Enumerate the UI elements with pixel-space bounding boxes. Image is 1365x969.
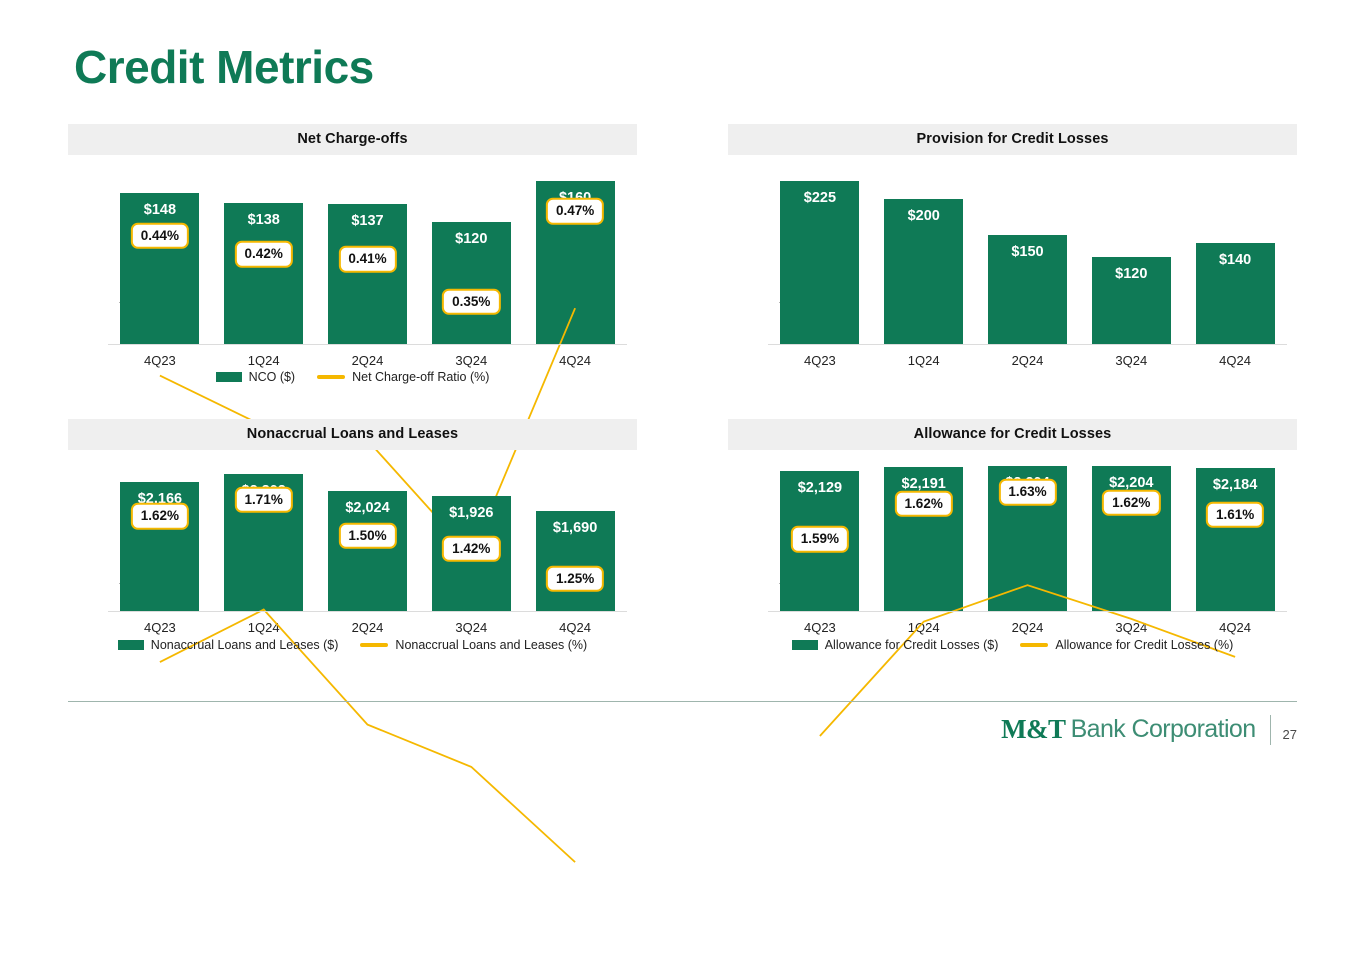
chart-title-nonaccrual-loans-and-leases: Nonaccrual Loans and Leases bbox=[68, 419, 637, 450]
chart-area-nonaccrual-loans-and-leases: $ IN MILLIONS $2,1664Q23$2,3021Q24$2,024… bbox=[68, 450, 637, 640]
x-axis-tick-label: 3Q24 bbox=[1079, 353, 1183, 368]
bar-group: $140 bbox=[1183, 155, 1287, 345]
bar-group: $2,191 bbox=[872, 450, 976, 612]
x-axis-tick: 4Q23 bbox=[108, 346, 212, 372]
x-axis-tick-label: 2Q24 bbox=[976, 353, 1080, 368]
x-axis-tick-label: 2Q24 bbox=[316, 353, 420, 368]
x-axis-tick: 3Q24 bbox=[419, 346, 523, 372]
chart-title-net-charge-offs: Net Charge-offs bbox=[68, 124, 637, 155]
legend-bar-swatch-icon bbox=[792, 640, 818, 650]
legend-line-swatch-icon bbox=[360, 643, 388, 647]
legend-line-swatch-icon bbox=[1020, 643, 1048, 647]
ratio-value-pill[interactable]: 1.62% bbox=[131, 503, 189, 530]
legend-item-line: Nonaccrual Loans and Leases (%) bbox=[360, 638, 587, 652]
legend-item-line: Net Charge-off Ratio (%) bbox=[317, 370, 489, 384]
x-axis-tick: 4Q23 bbox=[108, 613, 212, 639]
ratio-value-pill[interactable]: 1.50% bbox=[338, 522, 396, 549]
x-axis-tick-label: 2Q24 bbox=[976, 620, 1080, 635]
bar-group: $120 bbox=[419, 155, 523, 345]
legend-line-label: Allowance for Credit Losses (%) bbox=[1055, 638, 1233, 652]
chart-legend-nonaccrual-loans-and-leases: Nonaccrual Loans and Leases ($) Nonaccru… bbox=[68, 638, 637, 652]
brand-divider bbox=[1270, 715, 1271, 745]
chart-legend-net-charge-offs: NCO ($) Net Charge-off Ratio (%) bbox=[68, 370, 637, 384]
ratio-value-pill[interactable]: 1.71% bbox=[235, 487, 293, 514]
x-axis-tick-label: 3Q24 bbox=[419, 353, 523, 368]
legend-bar-label: Nonaccrual Loans and Leases ($) bbox=[151, 638, 339, 652]
bar-value-label: $137 bbox=[328, 213, 407, 229]
legend-item-bar: Allowance for Credit Losses ($) bbox=[792, 638, 999, 652]
x-axis-tick-label: 3Q24 bbox=[419, 620, 523, 635]
ratio-value-pill[interactable]: 1.61% bbox=[1206, 501, 1264, 528]
bar[interactable]: $225 bbox=[780, 181, 859, 345]
bar[interactable]: $2,191 bbox=[884, 467, 963, 612]
x-axis-tick: 1Q24 bbox=[212, 613, 316, 639]
legend-bar-swatch-icon bbox=[118, 640, 144, 650]
x-axis-tick: 4Q24 bbox=[1183, 346, 1287, 372]
axis-baseline bbox=[768, 611, 1287, 612]
ratio-value-pill[interactable]: 0.35% bbox=[442, 288, 500, 315]
x-axis-tick-label: 2Q24 bbox=[316, 620, 420, 635]
x-axis-tick-label: 1Q24 bbox=[212, 620, 316, 635]
x-axis-tick: 2Q24 bbox=[316, 346, 420, 372]
x-axis-tick-label: 4Q23 bbox=[768, 620, 872, 635]
bar-group: $2,302 bbox=[212, 450, 316, 612]
ratio-value-pill[interactable]: 0.47% bbox=[546, 198, 604, 225]
legend-item-bar: Nonaccrual Loans and Leases ($) bbox=[118, 638, 339, 652]
brand-mark-mt: M&T bbox=[1001, 714, 1065, 745]
axis-baseline bbox=[768, 344, 1287, 345]
ratio-value-pill[interactable]: 1.62% bbox=[1102, 489, 1160, 516]
ratio-value-pill[interactable]: 1.59% bbox=[791, 526, 849, 553]
chart-panel-allowance-for-credit-losses: Allowance for Credit Losses $ IN MILLION… bbox=[728, 419, 1297, 640]
page-title: Credit Metrics bbox=[74, 44, 374, 90]
axis-baseline bbox=[108, 344, 627, 345]
plot-area: $2254Q23$2001Q24$1502Q24$1203Q24$1404Q24 bbox=[768, 155, 1287, 345]
bar-group: $2,204 bbox=[1079, 450, 1183, 612]
x-axis-tick-label: 4Q24 bbox=[523, 620, 627, 635]
legend-line-label: Net Charge-off Ratio (%) bbox=[352, 370, 489, 384]
bar-value-label: $1,926 bbox=[432, 505, 511, 521]
footer-brand: M&T Bank Corporation 27 bbox=[1001, 714, 1297, 745]
chart-panel-net-charge-offs: Net Charge-offs $ IN MILLIONS $1484Q23$1… bbox=[68, 124, 637, 373]
bar-group: $148 bbox=[108, 155, 212, 345]
chart-panel-provision-for-credit-losses: Provision for Credit Losses $ IN MILLION… bbox=[728, 124, 1297, 373]
x-axis-tick-label: 1Q24 bbox=[872, 620, 976, 635]
chart-area-net-charge-offs: $ IN MILLIONS $1484Q23$1381Q24$1372Q24$1… bbox=[68, 155, 637, 373]
footer-divider bbox=[68, 701, 1297, 702]
bar-group: $2,166 bbox=[108, 450, 212, 612]
legend-bar-label: Allowance for Credit Losses ($) bbox=[825, 638, 999, 652]
x-axis-tick: 4Q24 bbox=[523, 613, 627, 639]
plot-area: $1484Q23$1381Q24$1372Q24$1203Q24$1604Q24… bbox=[108, 155, 627, 345]
plot-area: $2,1294Q23$2,1911Q24$2,2042Q24$2,2043Q24… bbox=[768, 450, 1287, 612]
legend-line-swatch-icon bbox=[317, 375, 345, 379]
chart-title-allowance-for-credit-losses: Allowance for Credit Losses bbox=[728, 419, 1297, 450]
bar-value-label: $2,184 bbox=[1196, 477, 1275, 493]
x-axis-tick-label: 4Q23 bbox=[768, 353, 872, 368]
bar[interactable]: $2,204 bbox=[1092, 466, 1171, 612]
bar[interactable]: $120 bbox=[432, 222, 511, 345]
chart-area-provision-for-credit-losses: $ IN MILLIONS $2254Q23$2001Q24$1502Q24$1… bbox=[728, 155, 1297, 373]
x-axis-tick: 1Q24 bbox=[872, 613, 976, 639]
plot-area: $2,1664Q23$2,3021Q24$2,0242Q24$1,9263Q24… bbox=[108, 450, 627, 612]
bar[interactable]: $148 bbox=[120, 193, 199, 345]
brand-mark-name: Bank Corporation bbox=[1071, 715, 1256, 744]
bar-value-label: $120 bbox=[432, 231, 511, 247]
x-axis-tick-label: 3Q24 bbox=[1079, 620, 1183, 635]
chart-area-allowance-for-credit-losses: $ IN MILLIONS $2,1294Q23$2,1911Q24$2,204… bbox=[728, 450, 1297, 640]
bar[interactable]: $2,166 bbox=[120, 482, 199, 612]
x-axis-tick-label: 1Q24 bbox=[872, 353, 976, 368]
bar-value-label: $2,024 bbox=[328, 500, 407, 516]
bar[interactable]: $2,024 bbox=[328, 491, 407, 612]
bar[interactable]: $137 bbox=[328, 204, 407, 345]
chart-title-provision-for-credit-losses: Provision for Credit Losses bbox=[728, 124, 1297, 155]
ratio-value-pill[interactable]: 0.41% bbox=[338, 246, 396, 273]
bar-value-label: $225 bbox=[780, 190, 859, 206]
chart-legend-allowance-for-credit-losses: Allowance for Credit Losses ($) Allowanc… bbox=[728, 638, 1297, 652]
bar[interactable]: $2,184 bbox=[1196, 468, 1275, 612]
x-axis-tick: 1Q24 bbox=[212, 346, 316, 372]
bar-value-label: $140 bbox=[1196, 252, 1275, 268]
x-axis-tick: 2Q24 bbox=[316, 613, 420, 639]
legend-item-line: Allowance for Credit Losses (%) bbox=[1020, 638, 1233, 652]
ratio-value-pill[interactable]: 1.62% bbox=[895, 490, 953, 517]
bar-value-label: $138 bbox=[224, 212, 303, 228]
chart-panel-nonaccrual-loans-and-leases: Nonaccrual Loans and Leases $ IN MILLION… bbox=[68, 419, 637, 640]
x-axis-tick-label: 4Q23 bbox=[108, 620, 212, 635]
bar-group: $150 bbox=[976, 155, 1080, 345]
bar[interactable]: $140 bbox=[1196, 243, 1275, 345]
legend-bar-label: NCO ($) bbox=[249, 370, 296, 384]
bar[interactable]: $200 bbox=[884, 199, 963, 345]
bar-group: $2,184 bbox=[1183, 450, 1287, 612]
legend-bar-swatch-icon bbox=[216, 372, 242, 382]
ratio-value-pill[interactable]: 0.44% bbox=[131, 223, 189, 250]
x-axis-tick-label: 4Q24 bbox=[523, 353, 627, 368]
bar-group: $160 bbox=[523, 155, 627, 345]
bar[interactable]: $120 bbox=[1092, 257, 1171, 345]
x-axis-tick: 3Q24 bbox=[1079, 346, 1183, 372]
x-axis-tick: 4Q24 bbox=[1183, 613, 1287, 639]
bar-group: $200 bbox=[872, 155, 976, 345]
x-axis-tick: 4Q23 bbox=[768, 613, 872, 639]
bar-value-label: $1,690 bbox=[536, 520, 615, 536]
bar-group: $120 bbox=[1079, 155, 1183, 345]
x-axis-tick: 2Q24 bbox=[976, 613, 1080, 639]
bar-group: $2,204 bbox=[976, 450, 1080, 612]
x-axis-tick-label: 4Q24 bbox=[1183, 353, 1287, 368]
bar[interactable]: $1,690 bbox=[536, 511, 615, 612]
bar-group: $1,926 bbox=[419, 450, 523, 612]
bar-value-label: $120 bbox=[1092, 266, 1171, 282]
x-axis-tick: 4Q24 bbox=[523, 346, 627, 372]
bar-value-label: $148 bbox=[120, 202, 199, 218]
bar-value-label: $2,129 bbox=[780, 480, 859, 496]
legend-line-label: Nonaccrual Loans and Leases (%) bbox=[395, 638, 587, 652]
bar-value-label: $150 bbox=[988, 244, 1067, 260]
bar[interactable]: $150 bbox=[988, 235, 1067, 345]
ratio-value-pill[interactable]: 1.25% bbox=[546, 565, 604, 592]
axis-baseline bbox=[108, 611, 627, 612]
x-axis-tick-label: 4Q23 bbox=[108, 353, 212, 368]
bar[interactable]: $138 bbox=[224, 203, 303, 345]
bar-value-label: $200 bbox=[884, 208, 963, 224]
legend-item-bar: NCO ($) bbox=[216, 370, 296, 384]
page-number: 27 bbox=[1283, 727, 1297, 745]
x-axis-tick-label: 4Q24 bbox=[1183, 620, 1287, 635]
ratio-value-pill[interactable]: 1.63% bbox=[998, 479, 1056, 506]
ratio-value-pill[interactable]: 0.42% bbox=[235, 241, 293, 268]
x-axis-tick: 4Q23 bbox=[768, 346, 872, 372]
x-axis-tick: 3Q24 bbox=[1079, 613, 1183, 639]
x-axis-tick: 1Q24 bbox=[872, 346, 976, 372]
bar-group: $225 bbox=[768, 155, 872, 345]
ratio-value-pill[interactable]: 1.42% bbox=[442, 536, 500, 563]
x-axis-tick-label: 1Q24 bbox=[212, 353, 316, 368]
x-axis-tick: 3Q24 bbox=[419, 613, 523, 639]
x-axis-tick: 2Q24 bbox=[976, 346, 1080, 372]
